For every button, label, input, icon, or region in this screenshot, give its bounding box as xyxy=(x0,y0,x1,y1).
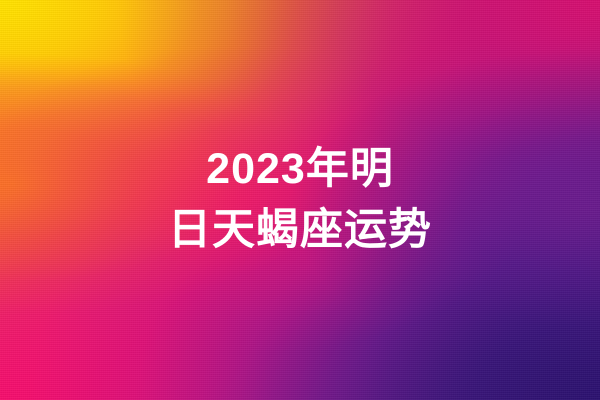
headline-line-2: 日天蝎座运势 xyxy=(168,209,432,252)
cover-banner: 2023年明 日天蝎座运势 xyxy=(0,0,600,400)
headline-line-1: 2023年明 xyxy=(206,148,394,191)
headline-block: 2023年明 日天蝎座运势 xyxy=(0,0,600,400)
